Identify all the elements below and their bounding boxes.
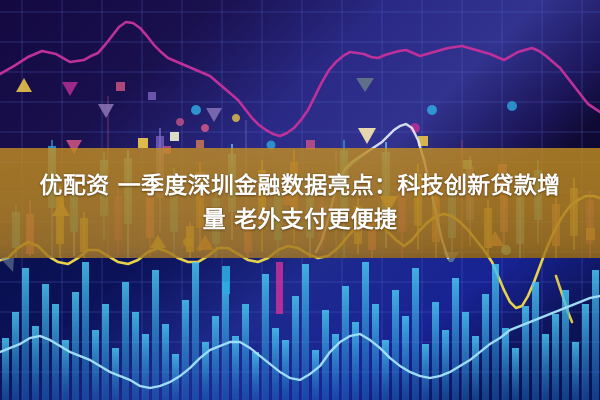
headline-line-1: 优配资 一季度深圳金融数据亮点：科技创新贷款增 <box>40 169 561 203</box>
headline-line-2: 量 老外支付更便捷 <box>203 203 398 237</box>
stock-chart-banner: 优配资 一季度深圳金融数据亮点：科技创新贷款增 量 老外支付更便捷 <box>0 0 600 400</box>
headline-overlay-band: 优配资 一季度深圳金融数据亮点：科技创新贷款增 量 老外支付更便捷 <box>0 148 600 258</box>
